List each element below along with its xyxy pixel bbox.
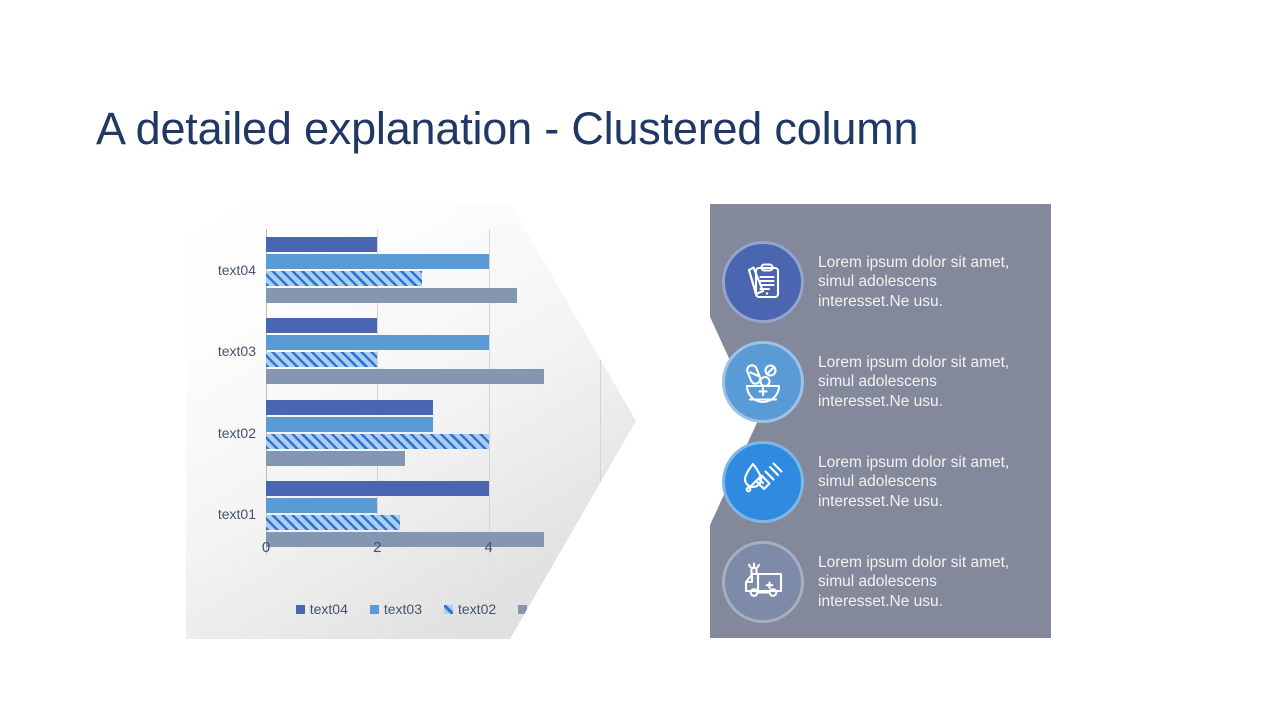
chart-gridline [600, 229, 601, 555]
legend-swatch-icon [370, 605, 379, 614]
chart-x-tick-label: 2 [373, 539, 381, 556]
info-item-text: Lorem ipsum dolor sit amet, simul adoles… [818, 353, 1018, 412]
chart-bar [266, 254, 489, 269]
info-item-text: Lorem ipsum dolor sit amet, simul adoles… [818, 453, 1018, 512]
chart-x-tick-label: 6 [596, 539, 604, 556]
chart-legend-label: text03 [384, 601, 422, 617]
chart-bar [266, 481, 489, 496]
info-item[interactable]: Lorem ipsum dolor sit amet, simul adoles… [722, 432, 1042, 532]
info-item-text: Lorem ipsum dolor sit amet, simul adoles… [818, 253, 1018, 312]
legend-swatch-icon [296, 605, 305, 614]
chart-category-group: text03 [266, 311, 600, 393]
chart-bar [266, 288, 517, 303]
chart-bar [266, 417, 433, 432]
chart-legend-item[interactable]: text04 [296, 601, 348, 617]
chart-category-group: text01 [266, 474, 600, 556]
chart-bar [266, 335, 489, 350]
chart-category-label: text02 [218, 425, 256, 441]
chart-bar [266, 271, 422, 286]
chart-legend-item[interactable]: text02 [444, 601, 496, 617]
chart-panel: text04text03text02text01 0246 text04text… [186, 203, 636, 639]
legend-swatch-icon [444, 605, 453, 614]
chart-plot-area: text04text03text02text01 [266, 229, 600, 555]
chart-category-group: text04 [266, 229, 600, 311]
chart-legend-label: text01 [532, 601, 570, 617]
chart-legend-label: text02 [458, 601, 496, 617]
chart-category-label: text01 [218, 506, 256, 522]
slide-canvas: A detailed explanation - Clustered colum… [0, 0, 1280, 720]
chart-bar [266, 532, 544, 547]
info-item[interactable]: Lorem ipsum dolor sit amet, simul adoles… [722, 232, 1042, 332]
clipboard-pen-icon[interactable] [722, 241, 804, 323]
page-title: A detailed explanation - Clustered colum… [96, 103, 918, 155]
info-item[interactable]: Lorem ipsum dolor sit amet, simul adoles… [722, 332, 1042, 432]
chart-legend-item[interactable]: text03 [370, 601, 422, 617]
chart-bar [266, 498, 377, 513]
chart-bar [266, 434, 489, 449]
chart-bar [266, 515, 400, 530]
info-item-text: Lorem ipsum dolor sit amet, simul adoles… [818, 553, 1018, 612]
pills-bowl-icon[interactable] [722, 341, 804, 423]
chart-legend: text04text03text02text01 [266, 601, 600, 617]
chart-bar [266, 451, 405, 466]
chart-legend-label: text04 [310, 601, 348, 617]
chart-x-tick-label: 0 [262, 539, 270, 556]
chart-bar [266, 237, 377, 252]
chart-category-label: text04 [218, 262, 256, 278]
info-item[interactable]: Lorem ipsum dolor sit amet, simul adoles… [722, 532, 1042, 632]
chart-category-label: text03 [218, 343, 256, 359]
chart-x-tick-label: 4 [484, 539, 492, 556]
chart-legend-item[interactable]: text01 [518, 601, 570, 617]
chart-category-group: text02 [266, 392, 600, 474]
chart-bar [266, 318, 377, 333]
blood-drop-syringe-icon[interactable] [722, 441, 804, 523]
ambulance-icon[interactable] [722, 541, 804, 623]
chart-bar [266, 369, 544, 384]
legend-swatch-icon [518, 605, 527, 614]
chart-bar [266, 400, 433, 415]
chart-bar [266, 352, 377, 367]
